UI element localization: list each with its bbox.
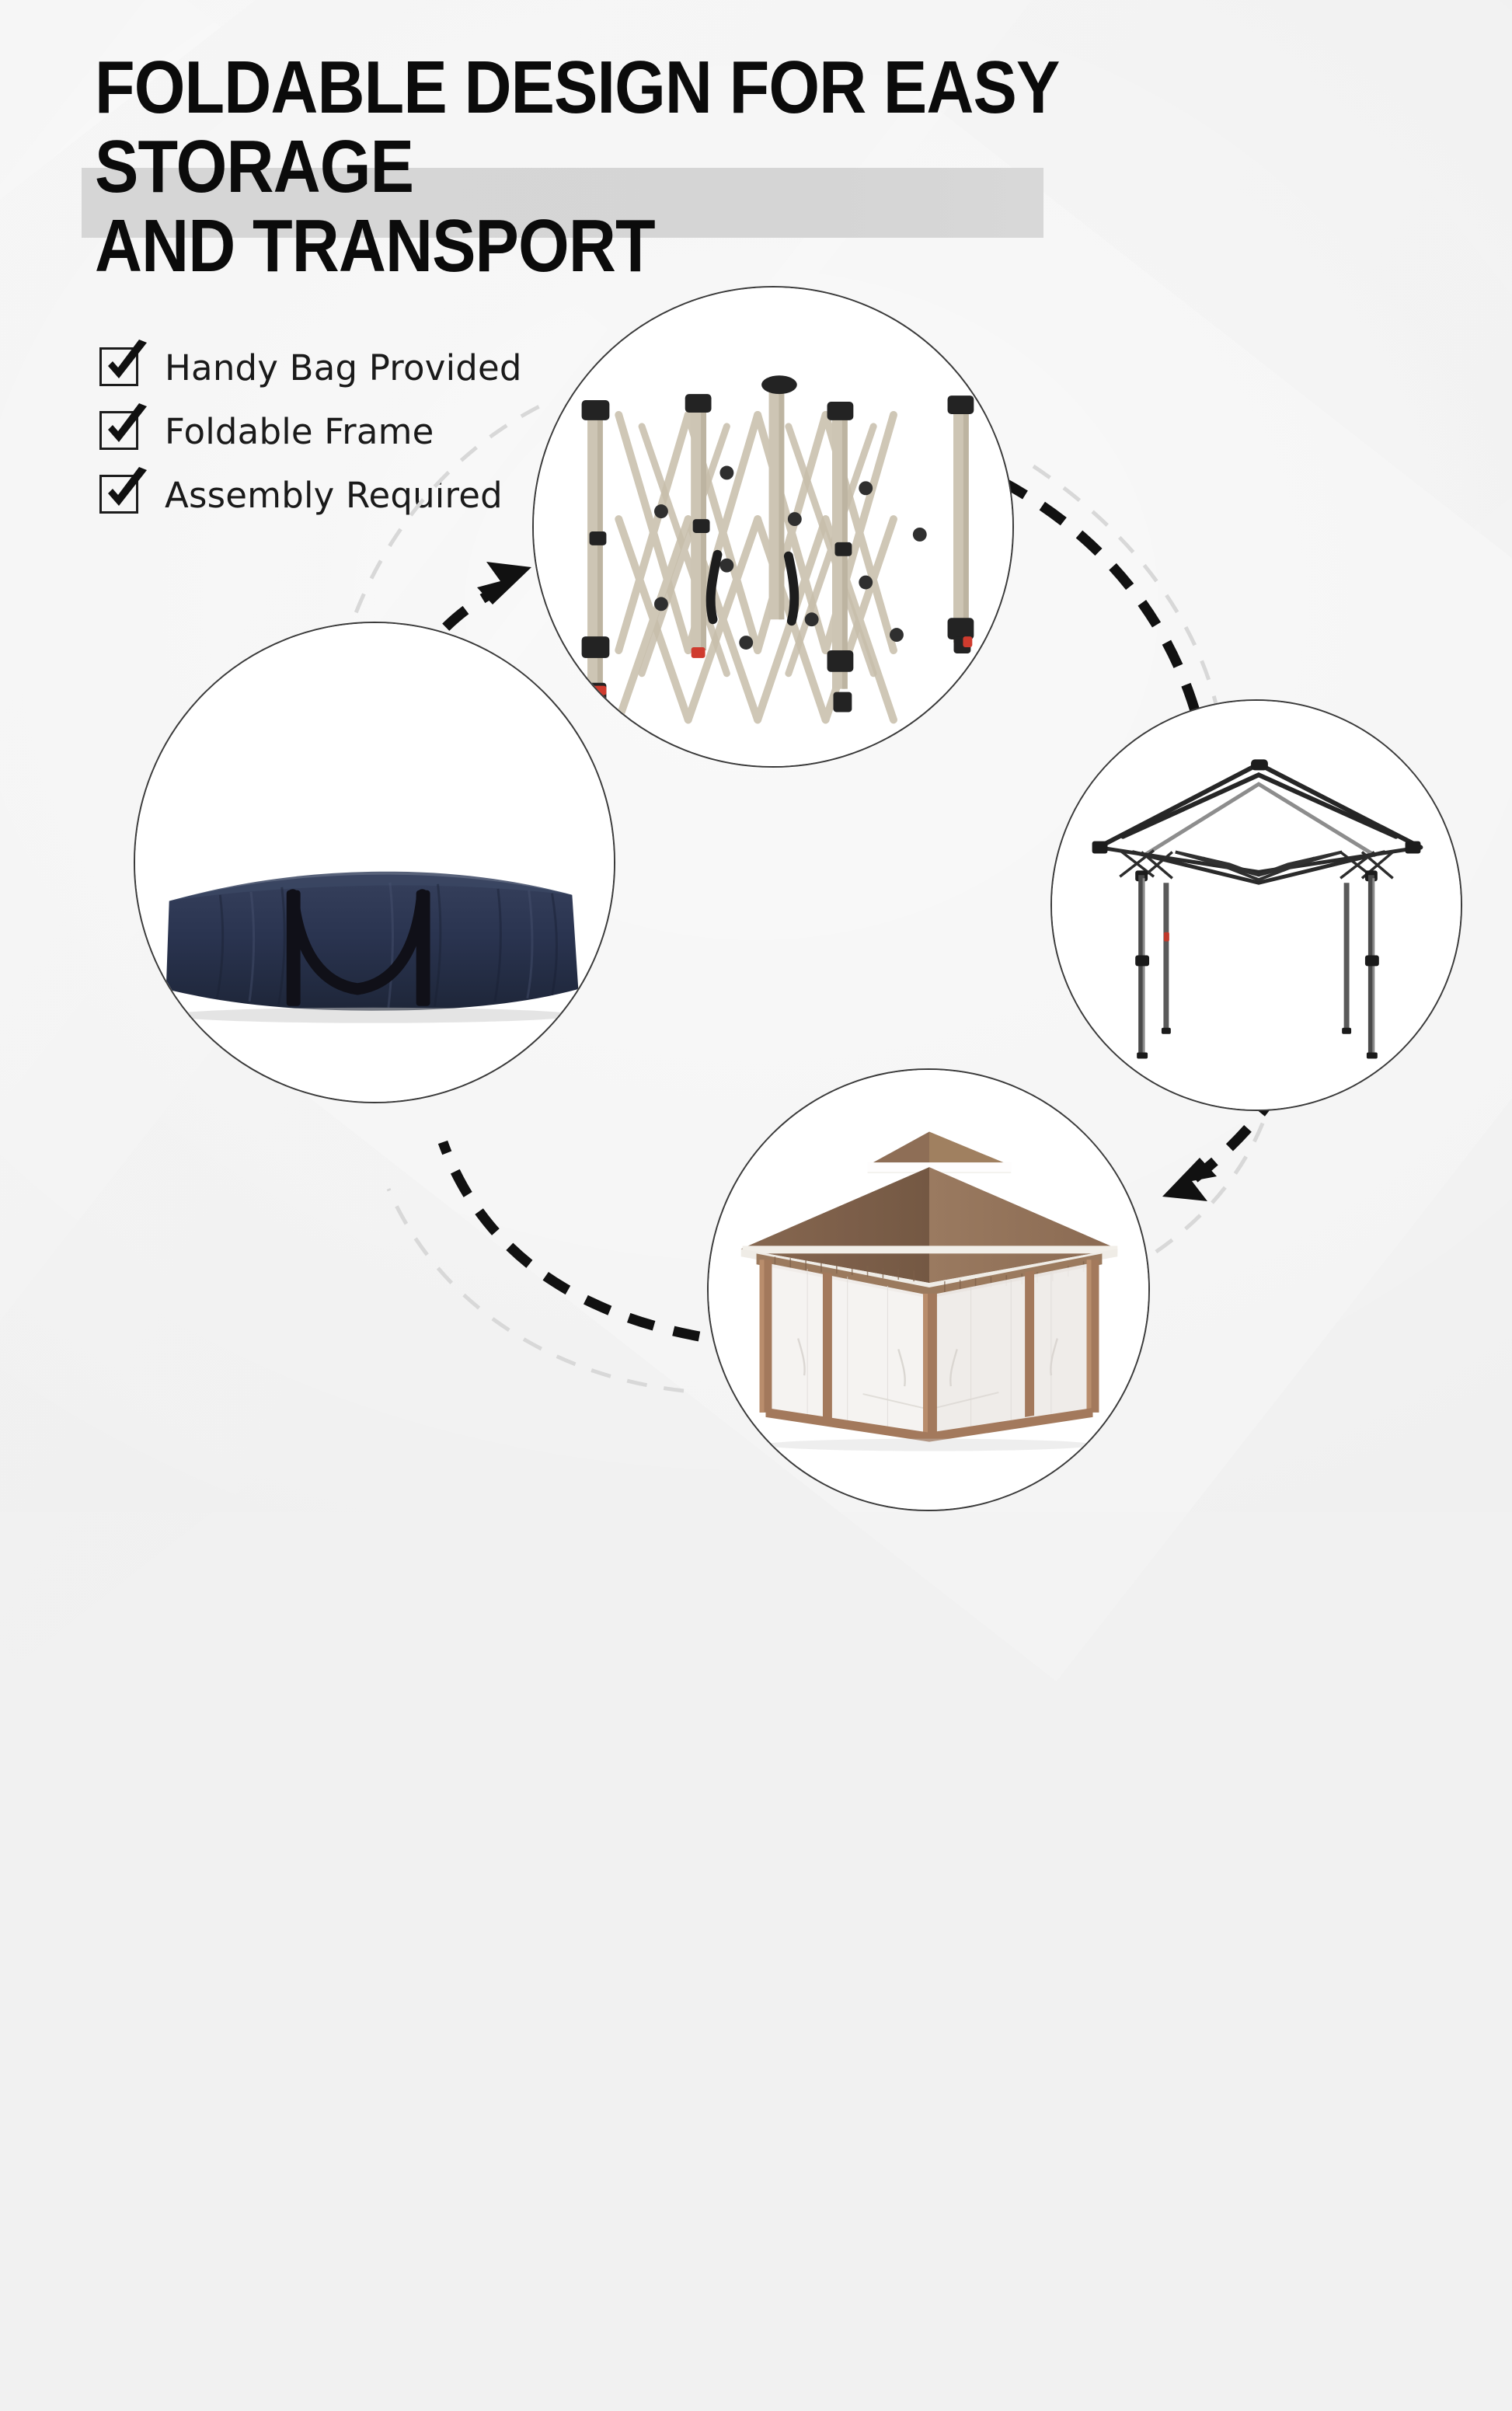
checkbox-checked-icon[interactable] (99, 347, 140, 388)
folded-frame-illustration (534, 287, 1012, 766)
photo-circle-carry-bag[interactable] (134, 622, 615, 1103)
photo-circle-assembled-gazebo[interactable] (707, 1068, 1150, 1511)
checkbox-checked-icon[interactable] (99, 475, 140, 515)
checkbox-checked-icon[interactable] (99, 411, 140, 451)
carry-bag-illustration (135, 623, 614, 1102)
list-item-label: Handy Bag Provided (165, 347, 522, 388)
photo-circle-open-frame[interactable] (1050, 699, 1462, 1111)
list-item[interactable]: Foldable Frame (99, 399, 522, 463)
list-item[interactable]: Assembly Required (99, 463, 522, 527)
photo-circle-folded-frame[interactable] (532, 286, 1014, 768)
feature-checklist: Handy Bag Provided Foldable Frame Assemb… (99, 336, 522, 527)
list-item-label: Assembly Required (165, 475, 503, 516)
list-item-label: Foldable Frame (165, 411, 434, 452)
gazebo-illustration (709, 1070, 1148, 1510)
infographic-canvas: FOLDABLE DESIGN FOR EASY STORAGE AND TRA… (0, 0, 1512, 1512)
open-frame-illustration (1052, 701, 1461, 1110)
list-item[interactable]: Handy Bag Provided (99, 336, 522, 399)
page-title: FOLDABLE DESIGN FOR EASY STORAGE AND TRA… (95, 48, 1257, 285)
